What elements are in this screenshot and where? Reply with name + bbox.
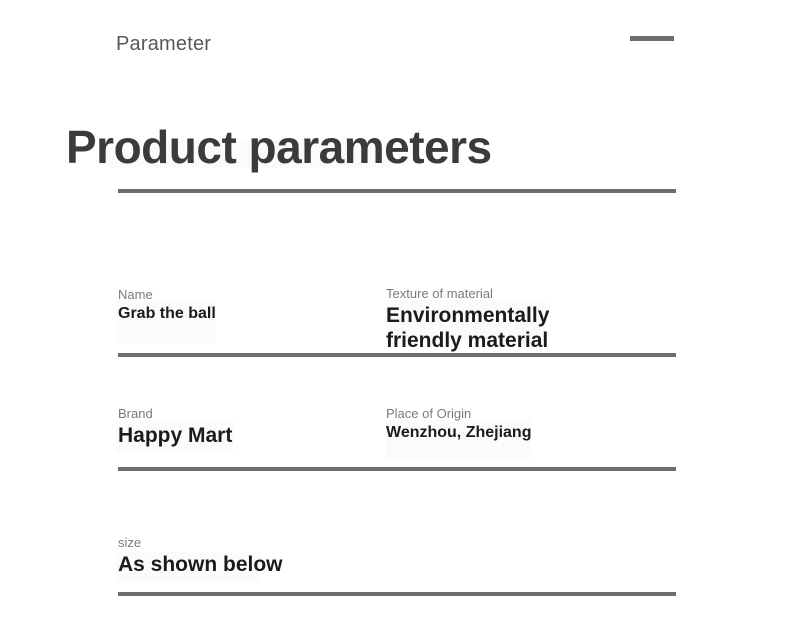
parameter-value: Happy Mart	[118, 423, 298, 448]
page-title: Product parameters	[66, 120, 492, 174]
parameter-cell-brand: Brand Happy Mart	[118, 406, 298, 448]
row-divider	[118, 467, 676, 471]
horizontal-dash-icon	[630, 36, 674, 41]
parameter-label: Name	[118, 287, 238, 303]
section-eyebrow: Parameter	[116, 33, 211, 56]
row-divider	[118, 353, 676, 357]
parameter-value: As shown below	[118, 552, 358, 577]
product-parameters-page: Parameter Product parameters Name Grab t…	[0, 0, 790, 623]
parameter-value: Wenzhou, Zhejiang	[386, 423, 566, 442]
parameter-label: Brand	[118, 406, 298, 422]
parameter-value: Grab the ball	[118, 304, 238, 323]
row-divider	[118, 592, 676, 596]
parameter-cell-place-of-origin: Place of Origin Wenzhou, Zhejiang	[386, 406, 566, 442]
parameter-label: Place of Origin	[386, 406, 566, 422]
parameter-label: size	[118, 535, 358, 551]
parameter-cell-name: Name Grab the ball	[118, 287, 238, 323]
parameter-cell-size: size As shown below	[118, 535, 358, 577]
header-divider	[118, 189, 676, 193]
parameter-value: Environmentally friendly material	[386, 303, 626, 353]
parameter-cell-texture-of-material: Texture of material Environmentally frie…	[386, 286, 626, 353]
parameter-label: Texture of material	[386, 286, 626, 302]
